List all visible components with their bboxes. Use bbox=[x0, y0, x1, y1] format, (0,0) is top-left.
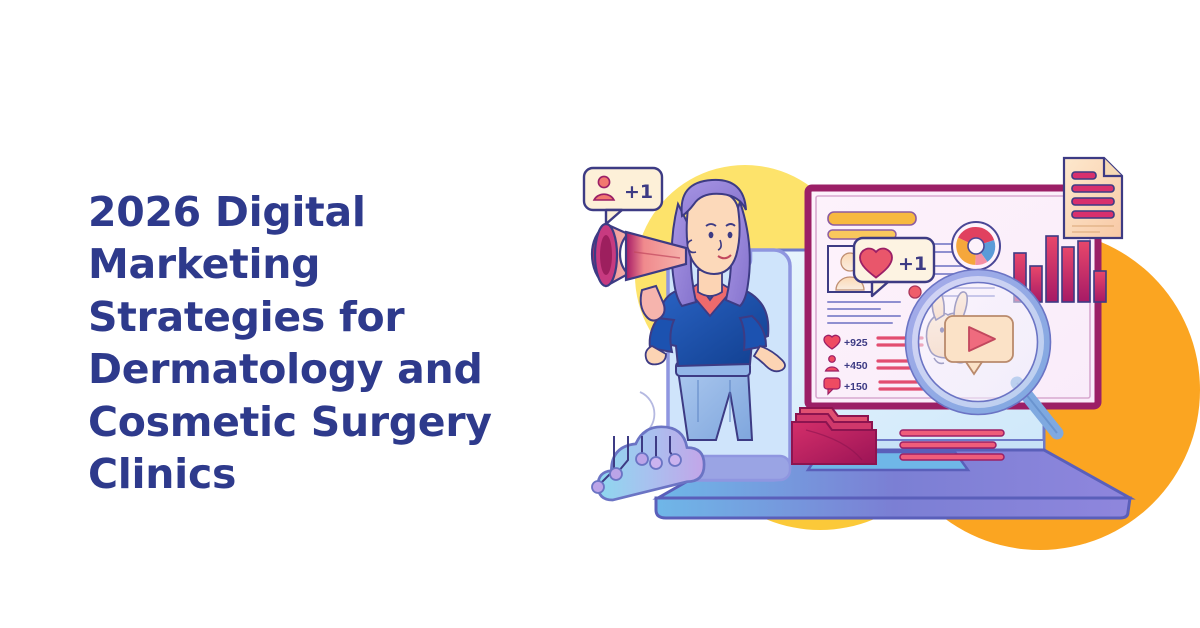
dashboard-title-bar bbox=[828, 212, 916, 225]
notification-badge-follow: +1 bbox=[584, 168, 662, 224]
stat-value-comments: +150 bbox=[844, 381, 868, 393]
document-icon bbox=[1064, 158, 1122, 238]
badge-label-like: +1 bbox=[898, 253, 927, 275]
person-icon bbox=[829, 356, 836, 363]
comment-icon bbox=[824, 378, 840, 389]
promo-banner: 2026 Digital Marketing Strategies for De… bbox=[0, 0, 1200, 628]
headline-column: 2026 Digital Marketing Strategies for De… bbox=[88, 186, 543, 501]
stat-value-likes: +925 bbox=[844, 337, 868, 349]
donut-chart bbox=[952, 222, 1000, 270]
folder-icon bbox=[792, 408, 876, 464]
digital-marketing-illustration: +925 +450 bbox=[570, 140, 1190, 540]
badge-label-follow: +1 bbox=[624, 181, 653, 203]
folder-text-lines bbox=[900, 430, 1004, 460]
stat-value-followers: +450 bbox=[844, 360, 868, 372]
page-title: 2026 Digital Marketing Strategies for De… bbox=[88, 186, 543, 501]
